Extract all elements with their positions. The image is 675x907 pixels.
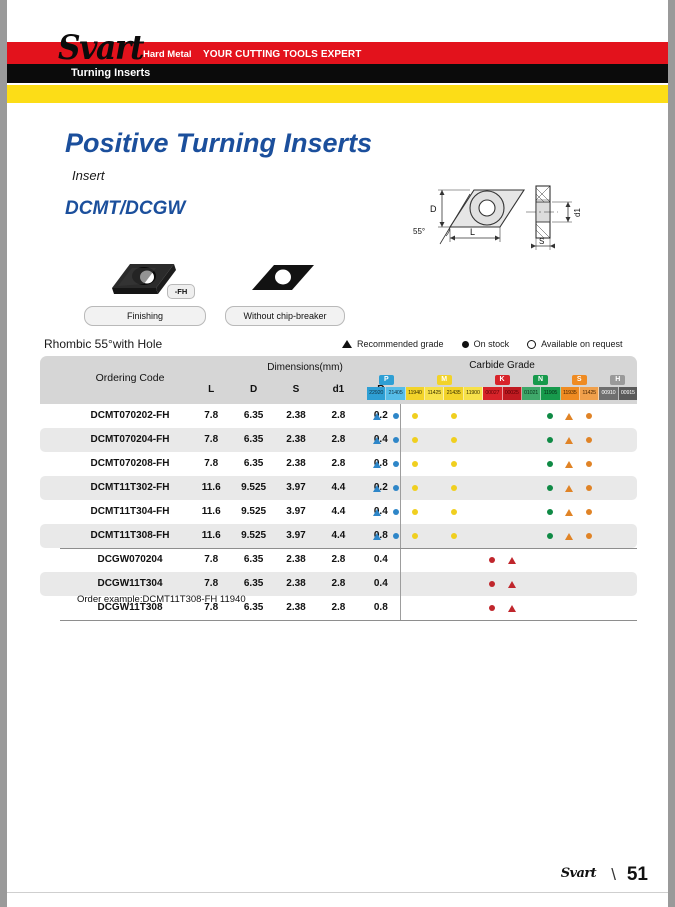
- recommended-triangle-icon: [508, 581, 516, 588]
- on-stock-dot-icon: [393, 533, 399, 539]
- grade-marker-cell: [444, 524, 463, 548]
- grade-marker-cell: [541, 404, 560, 428]
- cell-dim-l: 7.8: [190, 572, 232, 596]
- grade-marker-cell: [367, 452, 386, 476]
- on-stock-dot-icon: [393, 413, 399, 419]
- grade-marker-cell: [598, 452, 617, 476]
- on-stock-dot-icon: [586, 485, 592, 491]
- grade-marker-cell: [541, 428, 560, 452]
- grade-marker-cell: [367, 500, 386, 524]
- dim-label-d1: d1: [573, 208, 582, 217]
- grade-marker-cell: [560, 452, 579, 476]
- grade-marker-cell: [502, 548, 521, 572]
- footer-separator: \: [611, 865, 616, 885]
- recommended-triangle-icon: [565, 437, 573, 444]
- on-stock-dot-icon: [586, 533, 592, 539]
- grade-code-cell: 21405: [386, 387, 405, 400]
- on-stock-dot-icon: [547, 437, 553, 443]
- cell-grade-markers: [367, 596, 637, 620]
- on-stock-dot-icon: [547, 509, 553, 515]
- grade-marker-cell: [618, 428, 637, 452]
- legend-label-on-request: Available on request: [541, 339, 622, 349]
- on-stock-dot-icon: [489, 605, 495, 611]
- grade-marker-cell: [579, 524, 598, 548]
- grade-code-cell: 11935: [561, 387, 580, 400]
- grade-marker-cell: [425, 452, 444, 476]
- on-stock-dot-icon: [451, 533, 457, 539]
- grade-marker-cell: [406, 572, 425, 596]
- grade-marker-cell: [560, 500, 579, 524]
- table-row[interactable]: DCMT070204-FH7.86.352.382.80.4: [40, 428, 637, 452]
- grade-category-letter: P: [379, 375, 394, 385]
- grade-marker-cell: [463, 428, 482, 452]
- table-bottom-border: [60, 620, 637, 621]
- grade-marker-cell: [483, 452, 502, 476]
- cell-dim-d1: 2.8: [317, 404, 359, 428]
- grade-category-letter: K: [495, 375, 510, 385]
- cell-dim-l: 7.8: [190, 452, 232, 476]
- grade-marker-cell: [386, 524, 405, 548]
- grade-marker-cell: [444, 452, 463, 476]
- grade-marker-cell: [406, 548, 425, 572]
- recommended-triangle-icon: [565, 461, 573, 468]
- grade-marker-cell: [406, 404, 425, 428]
- legend-item-on-request: Available on request: [527, 339, 622, 349]
- grade-code-cell: 11900: [464, 387, 483, 400]
- grade-code-cells: 2292021405119401142521435119000002700025…: [367, 387, 637, 400]
- grade-marker-cell: [367, 428, 386, 452]
- grade-marker-cell: [386, 596, 405, 620]
- cell-dim-d: 6.35: [232, 428, 274, 452]
- recommended-triangle-icon: [373, 437, 381, 444]
- dim-label-angle: 55°: [413, 227, 425, 236]
- grade-marker-cell: [502, 452, 521, 476]
- cell-grade-markers: [367, 404, 637, 428]
- grade-marker-cell: [406, 476, 425, 500]
- grade-marker-cell: [579, 572, 598, 596]
- footer-logo: Svart: [561, 866, 596, 881]
- grade-code-cell: 21435: [444, 387, 463, 400]
- cell-dim-d1: 2.8: [317, 572, 359, 596]
- grade-marker-cell: [579, 404, 598, 428]
- grade-code-cell: 00915: [619, 387, 637, 400]
- grade-marker-cell: [483, 572, 502, 596]
- page-number: 51: [627, 864, 648, 886]
- table-row[interactable]: DCMT11T304-FH11.69.5253.974.40.4: [40, 500, 637, 524]
- grade-marker-cell: [483, 476, 502, 500]
- brand-logo: Svart: [58, 28, 143, 68]
- page-title: Positive Turning Inserts: [65, 128, 372, 159]
- grade-marker-cell: [386, 428, 405, 452]
- header-tagline: YOUR CUTTING TOOLS EXPERT: [203, 49, 361, 60]
- grade-marker-cell: [579, 452, 598, 476]
- grade-marker-cell: [386, 452, 405, 476]
- grade-marker-cell: [521, 428, 540, 452]
- grade-code-cell: 11940: [406, 387, 425, 400]
- photo-caption-no-chipbreaker: Without chip-breaker: [225, 306, 345, 326]
- grade-marker-cell: [483, 404, 502, 428]
- cell-dim-d1: 2.8: [317, 548, 359, 572]
- cell-ordering-code: DCMT070208-FH: [60, 452, 200, 476]
- grade-marker-cell: [502, 500, 521, 524]
- grade-marker-cell: [521, 452, 540, 476]
- grade-marker-cell: [541, 572, 560, 596]
- cell-dim-s: 2.38: [275, 404, 317, 428]
- cell-dim-l: 7.8: [190, 428, 232, 452]
- grade-marker-cell: [425, 524, 444, 548]
- grade-marker-cell: [521, 596, 540, 620]
- grade-marker-cell: [541, 596, 560, 620]
- dim-label-d: D: [430, 204, 437, 214]
- on-stock-dot-icon: [586, 413, 592, 419]
- grade-marker-cell: [406, 428, 425, 452]
- grade-marker-cell: [425, 476, 444, 500]
- grade-marker-cell: [444, 476, 463, 500]
- catalog-page: Svart Hard Metal YOUR CUTTING TOOLS EXPE…: [7, 0, 668, 907]
- grade-marker-cell: [367, 404, 386, 428]
- grade-marker-cell: [579, 428, 598, 452]
- legend-item-recommended: Recommended grade: [342, 339, 444, 349]
- grade-category-n: N: [521, 373, 560, 387]
- grade-category-letter: S: [572, 375, 587, 385]
- insert-photo-no-chipbreaker: Without chip-breaker: [242, 258, 328, 307]
- cell-dim-d: 6.35: [232, 452, 274, 476]
- grade-marker-cell: [560, 404, 579, 428]
- grade-marker-cell: [444, 596, 463, 620]
- grade-marker-cell: [386, 404, 405, 428]
- cell-dim-l: 11.6: [190, 476, 232, 500]
- grade-marker-cell: [502, 404, 521, 428]
- brand-logo-text: Svart: [58, 28, 143, 68]
- grade-category-p: P: [367, 373, 406, 387]
- grade-marker-cell: [560, 476, 579, 500]
- grade-category-s: S: [560, 373, 599, 387]
- grade-marker-cell: [618, 548, 637, 572]
- on-stock-dot-icon: [586, 461, 592, 467]
- table-header: Ordering Code Dimensions(mm) Carbide Gra…: [40, 356, 637, 404]
- col-header-dim-l: L: [190, 384, 232, 395]
- grade-code-cell: 00910: [599, 387, 618, 400]
- on-stock-dot-icon: [489, 557, 495, 563]
- grade-marker-cell: [463, 596, 482, 620]
- grade-marker-cell: [521, 404, 540, 428]
- grade-marker-cell: [463, 404, 482, 428]
- on-stock-dot-icon: [547, 413, 553, 419]
- on-stock-dot-icon: [547, 485, 553, 491]
- grade-marker-cell: [579, 596, 598, 620]
- dim-label-s: S: [539, 237, 544, 246]
- table-row[interactable]: DCGW0702047.86.352.382.80.4: [40, 548, 637, 572]
- grade-marker-cell: [541, 476, 560, 500]
- cell-dim-d: 6.35: [232, 548, 274, 572]
- grade-category-k: K: [483, 373, 522, 387]
- order-example-note: Order example:DCMT11T308-FH 11940: [77, 594, 246, 605]
- grade-marker-cell: [463, 452, 482, 476]
- grade-marker-cell: [386, 572, 405, 596]
- grade-marker-cell: [425, 428, 444, 452]
- table-row[interactable]: DCGW11T3047.86.352.382.80.4: [40, 572, 637, 596]
- on-stock-dot-icon: [451, 437, 457, 443]
- on-stock-dot-icon: [451, 461, 457, 467]
- recommended-triangle-icon: [373, 485, 381, 492]
- on-stock-dot-icon: [393, 461, 399, 467]
- grade-marker-cell: [598, 524, 617, 548]
- grade-category-letter: N: [533, 375, 548, 385]
- cell-dim-s: 3.97: [275, 476, 317, 500]
- grade-marker-cell: [560, 548, 579, 572]
- open-circle-icon: [527, 340, 536, 349]
- triangle-icon: [342, 340, 352, 348]
- grade-marker-cell: [425, 500, 444, 524]
- no-chipbreaker-insert-image: [242, 258, 328, 302]
- on-stock-dot-icon: [547, 533, 553, 539]
- on-stock-dot-icon: [451, 485, 457, 491]
- grade-marker-cell: [502, 596, 521, 620]
- cell-dim-s: 3.97: [275, 500, 317, 524]
- cell-grade-markers: [367, 428, 637, 452]
- grade-marker-cell: [541, 452, 560, 476]
- grade-marker-cell: [386, 500, 405, 524]
- grade-marker-cell: [463, 500, 482, 524]
- cell-ordering-code: DCGW070204: [60, 548, 200, 572]
- cell-dim-d1: 2.8: [317, 452, 359, 476]
- grade-marker-cell: [367, 548, 386, 572]
- grade-marker-cell: [483, 548, 502, 572]
- legend: Recommended grade On stock Available on …: [342, 339, 622, 349]
- on-stock-dot-icon: [586, 509, 592, 515]
- grade-category-h: H: [598, 373, 637, 387]
- cell-dim-d: 9.525: [232, 500, 274, 524]
- grade-code-cell: 11905: [541, 387, 560, 400]
- grade-marker-cell: [367, 524, 386, 548]
- legend-item-on-stock: On stock: [462, 339, 510, 349]
- grade-marker-cell: [425, 572, 444, 596]
- grade-marker-cell: [425, 548, 444, 572]
- footer-divider: [7, 892, 668, 893]
- grade-marker-cell: [579, 476, 598, 500]
- cell-dim-s: 2.38: [275, 428, 317, 452]
- grade-category-letter: M: [437, 375, 452, 385]
- cell-dim-s: 2.38: [275, 452, 317, 476]
- grade-marker-cell: [618, 500, 637, 524]
- grade-code-cell: 00027: [483, 387, 502, 400]
- grade-marker-cell: [367, 596, 386, 620]
- grade-marker-cell: [560, 572, 579, 596]
- cell-dim-d: 9.525: [232, 524, 274, 548]
- grade-marker-cell: [541, 500, 560, 524]
- cell-dim-d1: 4.4: [317, 476, 359, 500]
- grade-marker-cell: [560, 596, 579, 620]
- grade-marker-cell: [560, 428, 579, 452]
- grade-marker-cell: [598, 572, 617, 596]
- cell-dim-d1: 2.8: [317, 428, 359, 452]
- grade-marker-cell: [463, 572, 482, 596]
- grade-category-badges: PMKNSH: [367, 373, 637, 387]
- cell-grade-markers: [367, 548, 637, 572]
- grade-marker-cell: [598, 596, 617, 620]
- insert-photo-finishing: -FH Finishing: [100, 258, 192, 307]
- product-table: Ordering Code Dimensions(mm) Carbide Gra…: [40, 356, 637, 620]
- grade-marker-cell: [521, 524, 540, 548]
- col-header-dim-d1: d1: [317, 384, 359, 395]
- grade-marker-cell: [618, 572, 637, 596]
- cell-dim-l: 7.8: [190, 548, 232, 572]
- grade-marker-cell: [502, 428, 521, 452]
- recommended-triangle-icon: [373, 533, 381, 540]
- recommended-triangle-icon: [565, 509, 573, 516]
- grade-marker-cell: [386, 548, 405, 572]
- recommended-triangle-icon: [565, 485, 573, 492]
- grade-marker-cell: [463, 476, 482, 500]
- legend-label-recommended: Recommended grade: [357, 339, 444, 349]
- on-stock-dot-icon: [412, 413, 418, 419]
- recommended-triangle-icon: [508, 605, 516, 612]
- on-stock-dot-icon: [393, 437, 399, 443]
- grade-code-cell: 11425: [425, 387, 444, 400]
- header-yellow-band: [7, 85, 668, 103]
- grade-marker-cell: [444, 428, 463, 452]
- col-header-dim-d: D: [232, 384, 274, 395]
- recommended-triangle-icon: [565, 413, 573, 420]
- grade-code-cell: 00025: [503, 387, 522, 400]
- recommended-triangle-icon: [373, 509, 381, 516]
- grade-category-m: M: [406, 373, 483, 387]
- grade-category-letter: H: [610, 375, 625, 385]
- table-row[interactable]: DCMT070202-FH7.86.352.382.80.2: [40, 404, 637, 428]
- grade-marker-cell: [618, 524, 637, 548]
- recommended-triangle-icon: [565, 533, 573, 540]
- cell-grade-markers: [367, 500, 637, 524]
- grade-marker-cell: [541, 524, 560, 548]
- grade-marker-cell: [618, 404, 637, 428]
- grade-marker-cell: [444, 572, 463, 596]
- cell-dim-s: 3.97: [275, 524, 317, 548]
- grade-marker-cell: [598, 548, 617, 572]
- grade-marker-cell: [598, 476, 617, 500]
- cell-dim-d: 6.35: [232, 572, 274, 596]
- grade-code-cell: 11425: [580, 387, 599, 400]
- grade-marker-cell: [579, 500, 598, 524]
- cell-ordering-code: DCMT11T302-FH: [60, 476, 200, 500]
- cell-grade-markers: [367, 572, 637, 596]
- cell-ordering-code: DCMT070204-FH: [60, 428, 200, 452]
- cell-grade-markers: [367, 476, 637, 500]
- grade-marker-cell: [618, 452, 637, 476]
- on-stock-dot-icon: [451, 413, 457, 419]
- cell-ordering-code: DCMT070202-FH: [60, 404, 200, 428]
- grade-marker-cell: [521, 500, 540, 524]
- cell-dim-l: 7.8: [190, 404, 232, 428]
- cell-dim-d1: 4.4: [317, 500, 359, 524]
- on-stock-dot-icon: [393, 509, 399, 515]
- on-stock-dot-icon: [489, 581, 495, 587]
- grade-marker-cell: [367, 572, 386, 596]
- col-header-dim-s: S: [275, 384, 317, 395]
- recommended-triangle-icon: [508, 557, 516, 564]
- grade-marker-cell: [521, 476, 540, 500]
- cell-grade-markers: [367, 452, 637, 476]
- table-group-divider: [60, 548, 637, 549]
- grade-marker-cell: [598, 428, 617, 452]
- recommended-triangle-icon: [373, 413, 381, 420]
- col-header-ordering-code: Ordering Code: [70, 372, 190, 384]
- on-stock-dot-icon: [412, 485, 418, 491]
- grade-marker-cell: [598, 404, 617, 428]
- cell-dim-d1: 2.8: [317, 596, 359, 620]
- grade-marker-cell: [444, 500, 463, 524]
- on-stock-dot-icon: [451, 509, 457, 515]
- grade-marker-cell: [386, 476, 405, 500]
- grade-marker-cell: [502, 572, 521, 596]
- grade-marker-cell: [463, 548, 482, 572]
- grade-marker-cell: [521, 572, 540, 596]
- on-stock-dot-icon: [412, 533, 418, 539]
- grade-marker-cell: [483, 500, 502, 524]
- grade-marker-cell: [406, 500, 425, 524]
- grade-marker-cell: [579, 548, 598, 572]
- cell-dim-d1: 4.4: [317, 524, 359, 548]
- on-stock-dot-icon: [393, 485, 399, 491]
- cell-dim-l: 11.6: [190, 500, 232, 524]
- grade-marker-cell: [425, 404, 444, 428]
- cell-dim-d: 9.525: [232, 476, 274, 500]
- table-vertical-divider: [400, 404, 401, 620]
- photo-caption-finishing: Finishing: [84, 306, 206, 326]
- table-row[interactable]: DCMT11T302-FH11.69.5253.974.40.2: [40, 476, 637, 500]
- grade-marker-cell: [483, 596, 502, 620]
- grade-marker-cell: [367, 476, 386, 500]
- header-section-title: Turning Inserts: [71, 67, 150, 79]
- grade-marker-cell: [483, 524, 502, 548]
- cell-dim-s: 2.38: [275, 548, 317, 572]
- table-row[interactable]: DCMT070208-FH7.86.352.382.80.8: [40, 452, 637, 476]
- chip-breaker-tag-fh: -FH: [167, 284, 195, 299]
- grade-marker-cell: [521, 548, 540, 572]
- table-caption: Rhombic 55°with Hole: [44, 337, 162, 351]
- cell-ordering-code: DCMT11T308-FH: [60, 524, 200, 548]
- grade-code-cell: 01021: [522, 387, 541, 400]
- table-body: DCMT070202-FH7.86.352.382.80.2DCMT070204…: [40, 404, 637, 620]
- table-row[interactable]: DCMT11T308-FH11.69.5253.974.40.8: [40, 524, 637, 548]
- cell-dim-s: 2.38: [275, 596, 317, 620]
- filled-circle-icon: [462, 341, 469, 348]
- on-stock-dot-icon: [412, 437, 418, 443]
- page-subtitle: Insert: [72, 168, 105, 183]
- grade-code-cell: 22920: [367, 387, 386, 400]
- cell-grade-markers: [367, 524, 637, 548]
- on-stock-dot-icon: [412, 509, 418, 515]
- grade-marker-cell: [444, 404, 463, 428]
- cell-dim-s: 2.38: [275, 572, 317, 596]
- on-stock-dot-icon: [547, 461, 553, 467]
- technical-drawing: D L 55° d1: [412, 172, 592, 257]
- col-header-carbide-grade: Carbide Grade: [367, 360, 637, 371]
- grade-marker-cell: [463, 524, 482, 548]
- grade-marker-cell: [618, 476, 637, 500]
- legend-label-on-stock: On stock: [474, 339, 510, 349]
- grade-marker-cell: [406, 524, 425, 548]
- grade-marker-cell: [406, 596, 425, 620]
- cell-ordering-code: DCGW11T304: [60, 572, 200, 596]
- grade-marker-cell: [618, 596, 637, 620]
- product-code-heading: DCMT/DCGW: [65, 198, 185, 220]
- grade-marker-cell: [444, 548, 463, 572]
- recommended-triangle-icon: [373, 461, 381, 468]
- cell-ordering-code: DCMT11T304-FH: [60, 500, 200, 524]
- grade-marker-cell: [560, 524, 579, 548]
- grade-marker-cell: [483, 428, 502, 452]
- grade-marker-cell: [502, 476, 521, 500]
